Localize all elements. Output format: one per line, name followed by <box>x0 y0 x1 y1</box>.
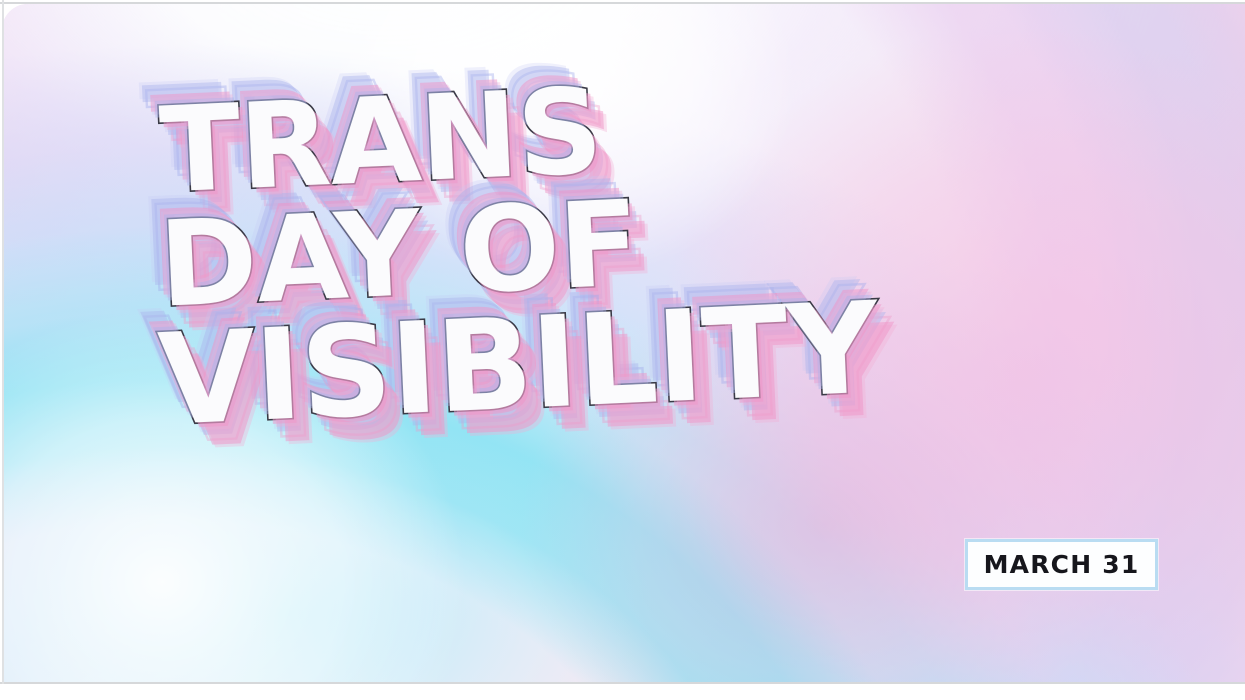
date-badge-label: MARCH 31 <box>984 550 1140 579</box>
frame-base-plate <box>0 684 1245 700</box>
date-badge: MARCH 31 <box>965 539 1158 590</box>
poster-artwork: TRANS TRANS TRANS DAY OF DAY OF DAY OF V… <box>2 4 1245 682</box>
poster-frame: TRANS TRANS TRANS DAY OF DAY OF DAY OF V… <box>0 0 1245 700</box>
headline-block: TRANS TRANS TRANS DAY OF DAY OF DAY OF V… <box>152 54 1176 436</box>
